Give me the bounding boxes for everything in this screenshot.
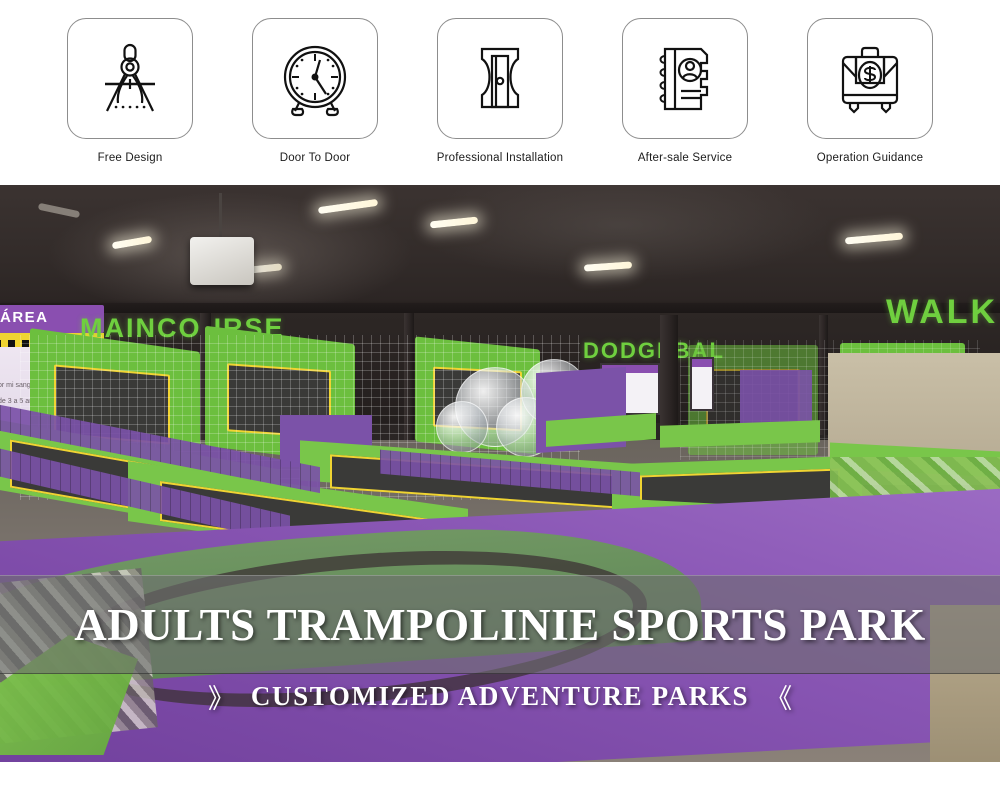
chevron-left-icon: 《 bbox=[765, 677, 792, 716]
service-label: Door To Door bbox=[280, 152, 351, 164]
service-item-after-sale-service[interactable]: After-sale Service bbox=[622, 18, 748, 164]
subtitle-row: 》 CUSTOMIZED ADVENTURE PARKS 《 bbox=[0, 672, 1000, 720]
address-book-icon bbox=[643, 37, 727, 121]
compass-icon bbox=[88, 37, 172, 121]
title-banner: ADULTS TRAMPOLINIE SPORTS PARK bbox=[0, 575, 1000, 674]
page-title: ADULTS TRAMPOLINIE SPORTS PARK bbox=[74, 599, 926, 651]
service-icon-card bbox=[252, 18, 378, 139]
zorb-ball bbox=[436, 401, 488, 453]
service-label: Operation Guidance bbox=[817, 152, 924, 164]
service-label: Free Design bbox=[98, 152, 163, 164]
service-icon-card bbox=[67, 18, 193, 139]
service-item-door-to-door[interactable]: Door To Door bbox=[252, 18, 378, 164]
service-item-operation-guidance[interactable]: Operation Guidance bbox=[807, 18, 933, 164]
bottom-white-strip bbox=[0, 762, 1000, 796]
alarm-clock-icon bbox=[273, 37, 357, 121]
poster-page: Free Design bbox=[0, 0, 1000, 796]
wall-notice-sign bbox=[690, 357, 714, 411]
service-label: After-sale Service bbox=[638, 152, 732, 164]
page-subtitle: CUSTOMIZED ADVENTURE PARKS bbox=[251, 681, 749, 712]
service-item-free-design[interactable]: Free Design bbox=[67, 18, 193, 164]
chevron-right-icon: 》 bbox=[208, 677, 235, 716]
service-icon-card bbox=[622, 18, 748, 139]
sign-header bbox=[692, 359, 712, 367]
sharpener-icon bbox=[458, 37, 542, 121]
service-icon-card bbox=[437, 18, 563, 139]
service-item-professional-installation[interactable]: Professional Installation bbox=[437, 18, 563, 164]
wall-sign-walk: WALK T bbox=[886, 293, 1000, 332]
service-feature-bar: Free Design bbox=[0, 0, 1000, 185]
service-icon-card bbox=[807, 18, 933, 139]
projector-mount bbox=[219, 193, 222, 237]
briefcase-money-icon bbox=[828, 37, 912, 121]
service-label: Professional Installation bbox=[437, 152, 563, 164]
hero-photo: ÁREA or mi sangue de 3 a 5 anos MAINCOUR… bbox=[0, 185, 1000, 762]
projector bbox=[190, 237, 254, 285]
